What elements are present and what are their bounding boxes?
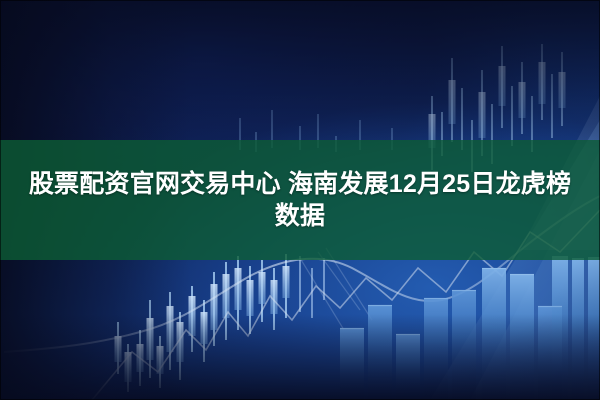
headline-text-block: 股票配资官网交易中心 海南发展12月25日龙虎榜 数据	[0, 168, 600, 233]
banner-image: 股票配资官网交易中心 海南发展12月25日龙虎榜 数据	[0, 0, 600, 400]
headline-line-1: 股票配资官网交易中心 海南发展12月25日龙虎榜	[10, 168, 590, 201]
headline-band: 股票配资官网交易中心 海南发展12月25日龙虎榜 数据	[0, 140, 600, 260]
headline-line-2: 数据	[10, 200, 590, 233]
